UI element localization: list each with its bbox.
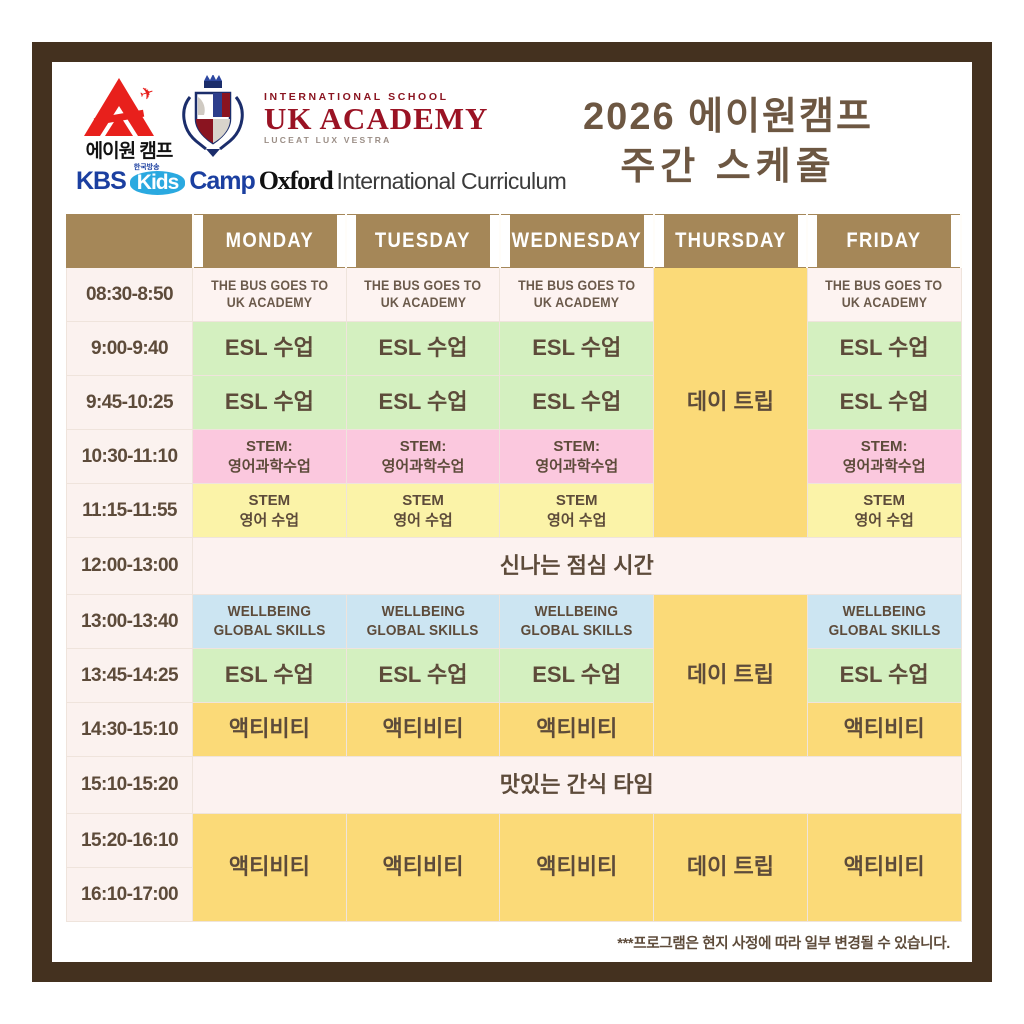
footer-note: ***프로그램은 현지 사정에 따라 일부 변경될 수 있습니다. — [66, 922, 962, 953]
schedule-cell-esl: ESL 수업 — [500, 649, 654, 703]
table-head: MONDAYTUESDAYWEDNESDAYTHURSDAYFRIDAY — [67, 215, 962, 268]
schedule-cell-esl: ESL 수업 — [193, 322, 347, 376]
schedule-cell-activity: 액티비티 — [807, 814, 961, 922]
time-slot-cell: 12:00-13:00 — [67, 538, 193, 595]
day-header-tuesday: TUESDAY — [355, 215, 490, 268]
schedule-cell-activity: 액티비티 — [193, 814, 347, 922]
uk-academy-motto: LUCEAT LUX VESTRA — [264, 135, 494, 145]
logo-group: ✈ 에이원 캠프 — [74, 76, 494, 196]
oxford-logo-text: Oxford — [259, 166, 333, 196]
schedule-cell-activity: 액티비티 — [807, 703, 961, 757]
schedule-cell-stemeng: STEM영어 수업 — [807, 484, 961, 538]
schedule-cell-esl: ESL 수업 — [193, 376, 347, 430]
schedule-cell-stemsci: STEM:영어과학수업 — [346, 430, 500, 484]
schedule-row: 12:00-13:00신나는 점심 시간 — [67, 538, 962, 595]
schedule-cell-bus: THE BUS GOES TOUK ACADEMY — [807, 268, 961, 322]
header-row: MONDAYTUESDAYWEDNESDAYTHURSDAYFRIDAY — [67, 215, 962, 268]
schedule-cell-stemeng: STEM영어 수업 — [346, 484, 500, 538]
schedule-cell-activity: 액티비티 — [346, 703, 500, 757]
schedule-cell-esl: ESL 수업 — [807, 376, 961, 430]
table-body: 08:30-8:50THE BUS GOES TOUK ACADEMYTHE B… — [67, 268, 962, 922]
day-header-monday: MONDAY — [202, 215, 337, 268]
schedule-cell-esl: ESL 수업 — [346, 376, 500, 430]
schedule-cell-esl: ESL 수업 — [500, 376, 654, 430]
uk-academy-wordmark: INTERNATIONAL SCHOOL UK ACADEMY LUCEAT L… — [260, 91, 494, 145]
schedule-table-wrap: MONDAYTUESDAYWEDNESDAYTHURSDAYFRIDAY 08:… — [52, 214, 972, 953]
schedule-cell-activity: 액티비티 — [500, 814, 654, 922]
schedule-cell-stemsci: STEM:영어과학수업 — [807, 430, 961, 484]
time-slot-cell: 13:45-14:25 — [67, 649, 193, 703]
time-slot-cell: 15:20-16:10 — [67, 814, 193, 868]
time-slot-cell: 13:00-13:40 — [67, 595, 193, 649]
time-slot-cell: 15:10-15:20 — [67, 757, 193, 814]
poster-card: ✈ 에이원 캠프 — [52, 62, 972, 962]
schedule-row: 14:30-15:10액티비티액티비티액티비티액티비티 — [67, 703, 962, 757]
a1-camp-label: 에이원 캠프 — [74, 136, 184, 163]
schedule-cell-stemeng: STEM영어 수업 — [500, 484, 654, 538]
time-slot-cell: 9:00-9:40 — [67, 322, 193, 376]
schedule-row: 10:30-11:10STEM:영어과학수업STEM:영어과학수업STEM:영어… — [67, 430, 962, 484]
a1-camp-logo-icon: ✈ 에이원 캠프 — [74, 76, 166, 160]
page-title-line1: 2026 에이원캠프 — [494, 92, 962, 142]
schedule-cell-activity: 액티비티 — [193, 703, 347, 757]
international-curriculum-text: International Curriculum — [336, 168, 566, 195]
uk-academy-title: UK ACADEMY — [264, 103, 494, 135]
schedule-cell-wellbeing: WELLBEINGGLOBAL SKILLS — [193, 595, 347, 649]
header-band: ✈ 에이원 캠프 — [52, 62, 972, 214]
schedule-row: 13:45-14:25ESL 수업ESL 수업ESL 수업ESL 수업 — [67, 649, 962, 703]
schedule-cell-esl: ESL 수업 — [807, 322, 961, 376]
schedule-row: 9:00-9:40ESL 수업ESL 수업ESL 수업ESL 수업 — [67, 322, 962, 376]
schedule-cell-wellbeing: WELLBEINGGLOBAL SKILLS — [807, 595, 961, 649]
time-slot-cell: 08:30-8:50 — [67, 268, 193, 322]
schedule-row: 15:10-15:20맛있는 간식 타임 — [67, 757, 962, 814]
poster-frame: ✈ 에이원 캠프 — [32, 42, 992, 982]
kids-badge: 한국방송 Kids — [130, 171, 186, 195]
time-slot-cell: 11:15-11:55 — [67, 484, 193, 538]
logo-row-primary: ✈ 에이원 캠프 — [74, 76, 494, 160]
day-header-wednesday: WEDNESDAY — [509, 215, 644, 268]
logo-row-partners: KBS 한국방송 Kids Camp Oxford International … — [74, 166, 494, 196]
camp-logo-text: Camp — [189, 167, 254, 196]
table-corner-cell — [67, 215, 193, 268]
schedule-cell-break: 맛있는 간식 타임 — [193, 757, 962, 814]
kids-badge-small-text: 한국방송 — [134, 162, 160, 172]
schedule-cell-esl: ESL 수업 — [193, 649, 347, 703]
schedule-cell-bus: THE BUS GOES TOUK ACADEMY — [193, 268, 347, 322]
schedule-cell-wellbeing: WELLBEINGGLOBAL SKILLS — [500, 595, 654, 649]
weekly-schedule-table: MONDAYTUESDAYWEDNESDAYTHURSDAYFRIDAY 08:… — [66, 214, 962, 922]
day-header-friday: FRIDAY — [816, 215, 951, 268]
schedule-cell-bus: THE BUS GOES TOUK ACADEMY — [346, 268, 500, 322]
schedule-cell-break: 신나는 점심 시간 — [193, 538, 962, 595]
schedule-cell-esl: ESL 수업 — [500, 322, 654, 376]
schedule-cell-stemsci: STEM:영어과학수업 — [193, 430, 347, 484]
time-slot-cell: 9:45-10:25 — [67, 376, 193, 430]
schedule-cell-esl: ESL 수업 — [346, 649, 500, 703]
kids-badge-label: Kids — [137, 171, 179, 194]
schedule-cell-esl: ESL 수업 — [346, 322, 500, 376]
schedule-cell-daytrip: 데이 트립 — [654, 595, 808, 757]
time-slot-cell: 14:30-15:10 — [67, 703, 193, 757]
day-header-thursday: THURSDAY — [663, 215, 798, 268]
schedule-cell-activity: 액티비티 — [500, 703, 654, 757]
schedule-cell-stemeng: STEM영어 수업 — [193, 484, 347, 538]
schedule-row: 15:20-16:10액티비티액티비티액티비티데이 트립액티비티 — [67, 814, 962, 868]
time-slot-cell: 10:30-11:10 — [67, 430, 193, 484]
schedule-cell-daytrip: 데이 트립 — [654, 814, 808, 922]
schedule-cell-esl: ESL 수업 — [807, 649, 961, 703]
kbs-logo-text: KBS — [76, 167, 126, 196]
schedule-cell-stemsci: STEM:영어과학수업 — [500, 430, 654, 484]
schedule-row: 11:15-11:55STEM영어 수업STEM영어 수업STEM영어 수업ST… — [67, 484, 962, 538]
schedule-cell-wellbeing: WELLBEINGGLOBAL SKILLS — [346, 595, 500, 649]
schedule-row: 13:00-13:40WELLBEINGGLOBAL SKILLSWELLBEI… — [67, 595, 962, 649]
schedule-row: 08:30-8:50THE BUS GOES TOUK ACADEMYTHE B… — [67, 268, 962, 322]
time-slot-cell: 16:10-17:00 — [67, 868, 193, 922]
uk-academy-crest-icon — [176, 75, 250, 161]
schedule-cell-bus: THE BUS GOES TOUK ACADEMY — [500, 268, 654, 322]
schedule-cell-activity: 액티비티 — [346, 814, 500, 922]
schedule-cell-daytrip: 데이 트립 — [654, 268, 808, 538]
schedule-row: 9:45-10:25ESL 수업ESL 수업ESL 수업ESL 수업 — [67, 376, 962, 430]
